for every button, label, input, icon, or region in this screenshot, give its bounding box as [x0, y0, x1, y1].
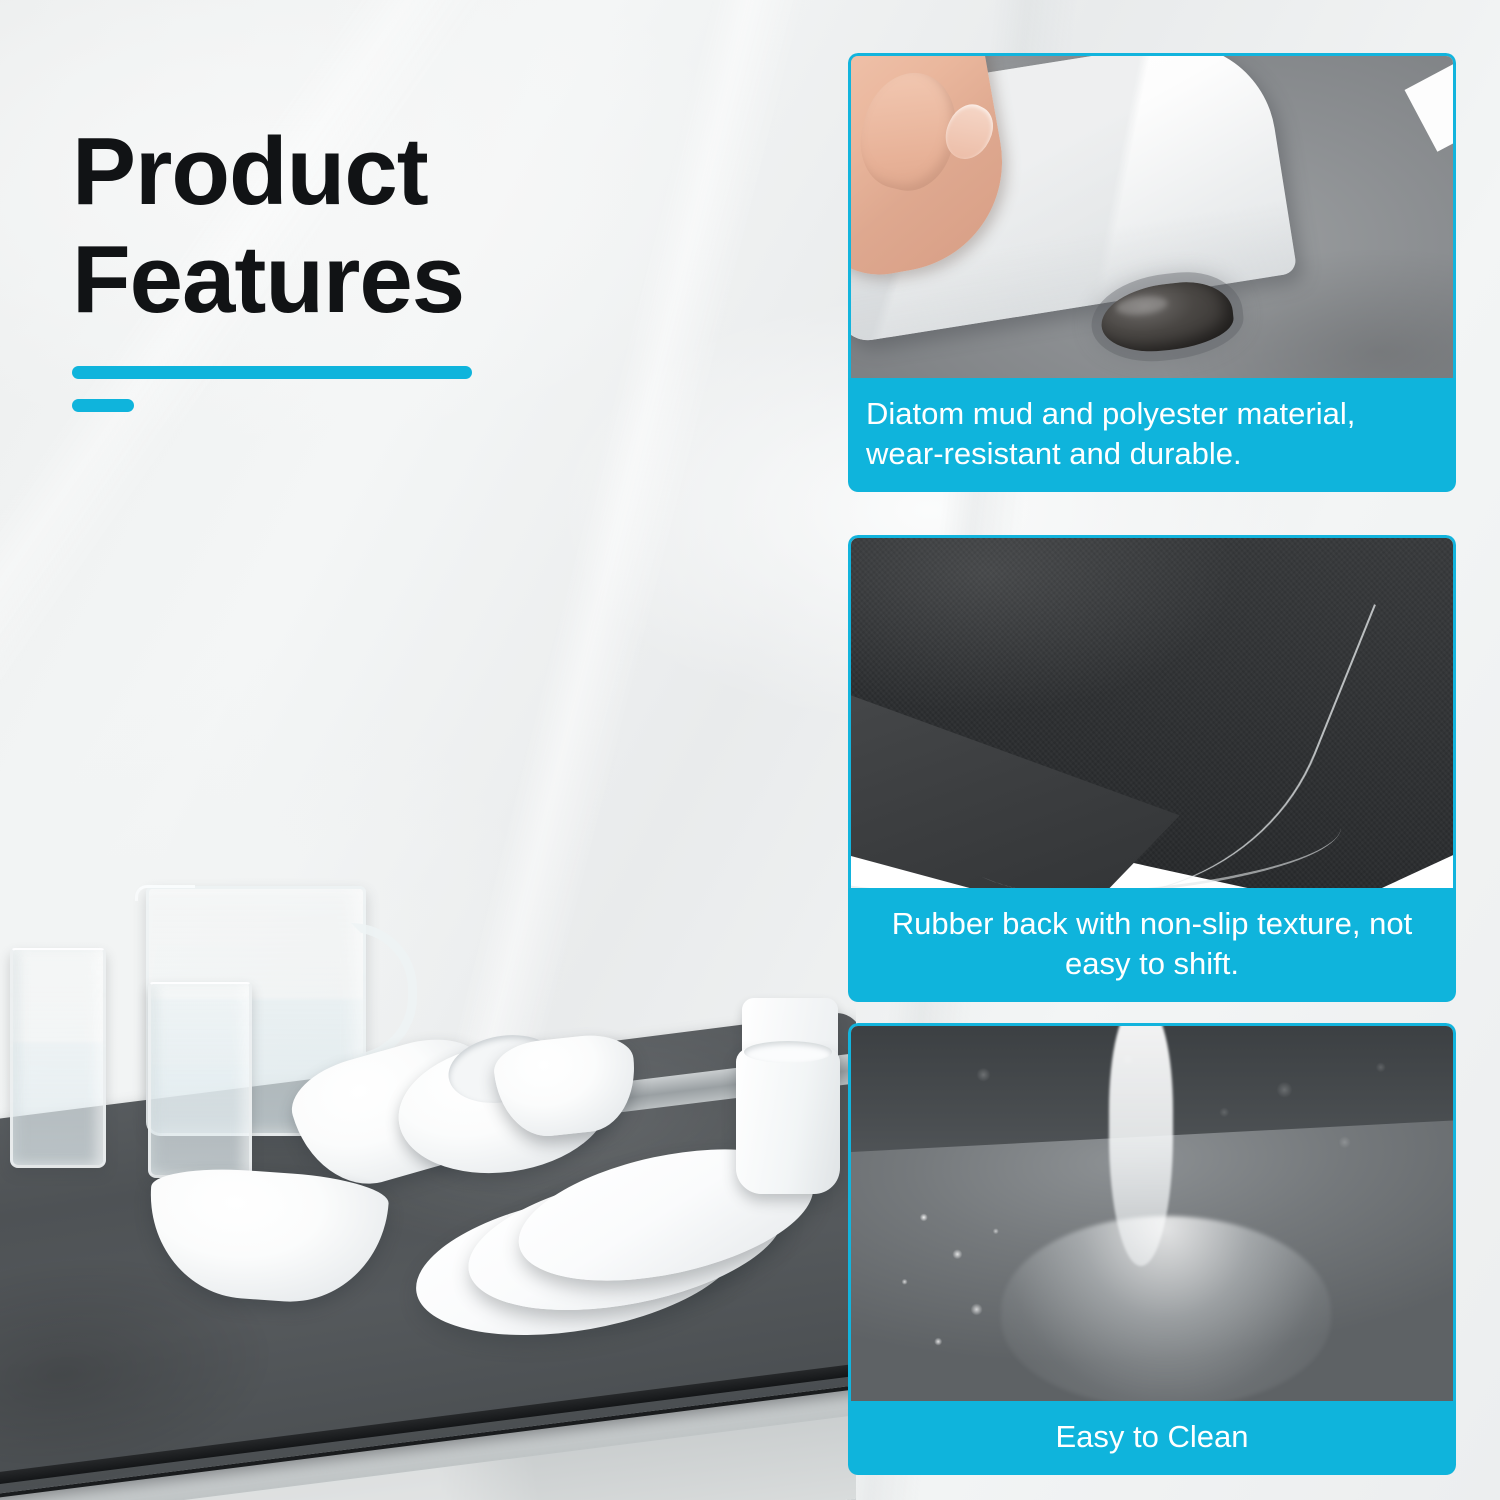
title-line-1: Product — [72, 118, 428, 225]
feature-photo-rubber-back — [848, 535, 1456, 888]
product-features-infographic: Product Features — [0, 0, 1500, 1500]
feature-photo-material — [848, 53, 1456, 378]
title-line-2: Features — [72, 226, 464, 333]
feature-caption-3: Easy to Clean — [848, 1401, 1456, 1475]
hero-product-photo — [0, 800, 856, 1500]
accent-rule-short — [72, 399, 134, 412]
accent-rule-long — [72, 366, 472, 379]
white-cup-front — [736, 1048, 840, 1194]
feature-caption-2: Rubber back with non-slip texture, not e… — [848, 888, 1456, 1002]
feature-panel-1: Diatom mud and polyester material, wear-… — [848, 53, 1456, 492]
water-droplets — [871, 1176, 1111, 1401]
feature-caption-1: Diatom mud and polyester material, wear-… — [848, 378, 1456, 492]
feature-panel-3: Easy to Clean — [848, 1023, 1456, 1475]
pitcher-spout — [135, 885, 195, 901]
water-glass-1 — [10, 948, 106, 1168]
page-title: Product Features — [72, 118, 712, 334]
feature-photo-easy-clean — [848, 1023, 1456, 1401]
water-glass-2 — [148, 982, 252, 1178]
feature-panel-2: Rubber back with non-slip texture, not e… — [848, 535, 1456, 1002]
pitcher-handle — [351, 923, 417, 1063]
